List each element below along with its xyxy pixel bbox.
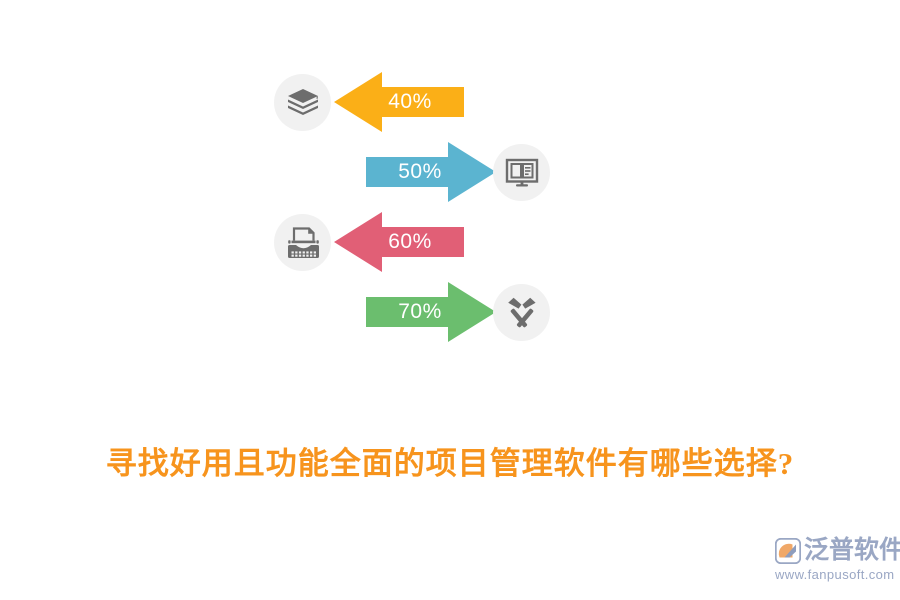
typewriter-icon	[285, 226, 321, 260]
books-stack-icon	[286, 88, 320, 118]
crossed-hammers-icon-badge	[493, 284, 550, 341]
open-book-icon-badge	[493, 144, 550, 201]
arrow-label-70: 70%	[366, 282, 496, 342]
page-title: 寻找好用且功能全面的项目管理软件有哪些选择?	[0, 438, 900, 483]
logo-name: 泛普软件	[804, 538, 900, 564]
brand-logo[interactable]: 泛普软件 www.fanpusoft.com	[775, 536, 893, 584]
infographic-row: 50%	[268, 142, 568, 212]
logo-row: 泛普软件	[775, 536, 893, 566]
crossed-hammers-icon	[504, 296, 540, 330]
fanpu-logo-mark-icon	[775, 538, 801, 564]
infographic-row: 60%	[268, 212, 568, 282]
logo-url: www.fanpusoft.com	[775, 567, 893, 582]
arrow-label-60: 60%	[334, 212, 464, 272]
typewriter-icon-badge	[274, 214, 331, 271]
infographic-row: 40%	[268, 72, 568, 142]
arrow-40-percent: 40%	[334, 72, 464, 132]
arrow-60-percent: 60%	[334, 212, 464, 272]
arrow-50-percent: 50%	[366, 142, 496, 202]
open-book-icon	[505, 157, 539, 189]
arrow-label-50: 50%	[366, 142, 496, 202]
infographic-row: 70%	[268, 282, 568, 352]
arrow-70-percent: 70%	[366, 282, 496, 342]
books-stack-icon-badge	[274, 74, 331, 131]
arrow-infographic: 40% 50%	[268, 72, 568, 362]
arrow-label-40: 40%	[334, 72, 464, 132]
page-canvas: 40% 50%	[0, 0, 900, 600]
